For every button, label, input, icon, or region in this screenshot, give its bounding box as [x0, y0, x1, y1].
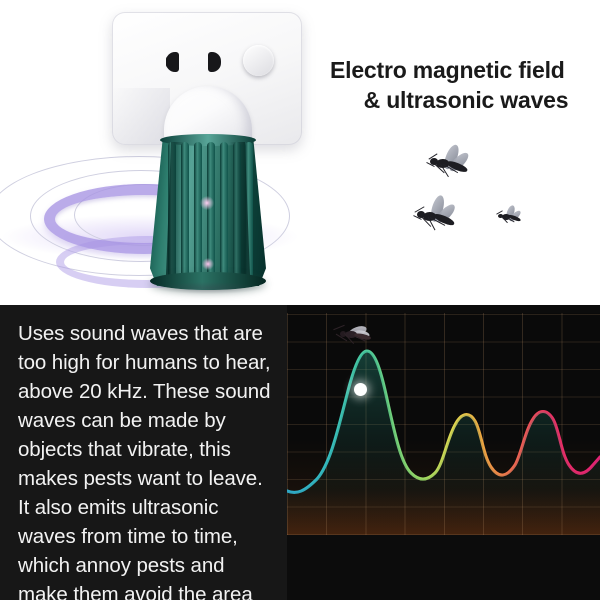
mosquito-chart-marker: [335, 323, 381, 353]
mosquito-leg: [333, 325, 345, 330]
mosquito-small-right: [497, 207, 525, 227]
bottom-description-panel: Uses sound waves that are too high for h…: [0, 305, 600, 600]
mosquito-large-upper: [428, 148, 476, 182]
outlet-power-button[interactable]: [243, 45, 274, 76]
headline-line-1: Electro magnetic field: [330, 56, 592, 86]
description-paragraph: Uses sound waves that are too high for h…: [18, 319, 276, 600]
uv-spectrum-chart: 365: [287, 305, 600, 600]
ultrasonic-bug-zapper: [150, 86, 266, 301]
page-title: Electro magnetic field & ultrasonic wave…: [330, 56, 592, 116]
product-infographic: Electro magnetic field & ultrasonic wave…: [0, 0, 600, 600]
mosquito-large-lower: [416, 200, 464, 234]
outlet-socket-right: [208, 52, 221, 72]
peak-marker-dot: [354, 383, 367, 396]
headline-line-2: & ultrasonic waves: [330, 86, 592, 116]
uv-hotspot: [202, 258, 214, 270]
outlet-socket-left: [166, 52, 179, 72]
uv-hotspot: [200, 196, 214, 210]
top-product-panel: Electro magnetic field & ultrasonic wave…: [0, 0, 600, 305]
device-shadow: [156, 282, 260, 294]
spectrum-curve: [287, 313, 600, 535]
chart-plot-area: [287, 313, 600, 535]
